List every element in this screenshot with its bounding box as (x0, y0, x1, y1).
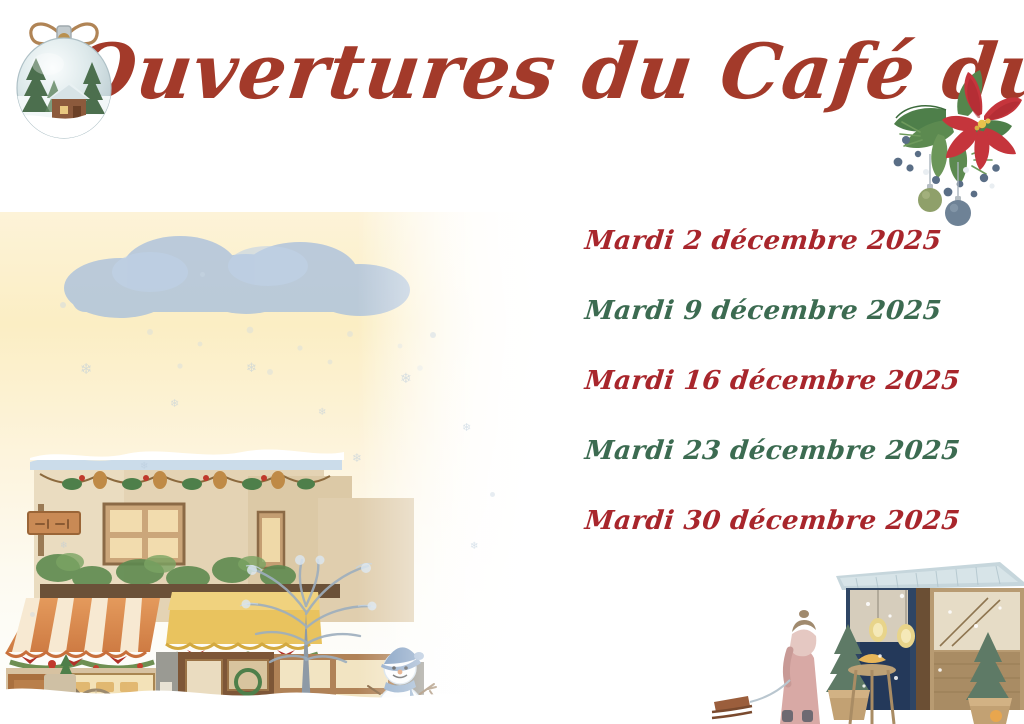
snowflake-icon: ❄ (60, 542, 68, 551)
list-item: Mardi 30 décembre 2025 (581, 486, 1018, 556)
orange-fruit (990, 710, 1002, 722)
list-item: Mardi 2 décembre 2025 (581, 206, 1018, 276)
snowflake-icon: ❄ (400, 372, 412, 386)
cafe-illustration (0, 212, 576, 724)
snowflake-icon: ❄ (80, 362, 93, 377)
winter-cafe-watercolor: ❄ ❄ ❄ ❄ ❄ ❄ ❄ ❄ ❄ ❄ (0, 212, 576, 724)
child-face-scarf (790, 629, 816, 656)
snowflake-icon: ❄ (140, 462, 148, 472)
sled (712, 680, 790, 718)
snowflake-icon: ❄ (318, 408, 326, 418)
child-boot (802, 710, 813, 722)
title-block: Ouvertures du Café du CRRF (0, 0, 1024, 200)
snow-dot (30, 612, 35, 617)
child-boot (782, 710, 793, 722)
list-item: Mardi 9 décembre 2025 (581, 276, 1018, 346)
list-item: Mardi 23 décembre 2025 (581, 416, 1018, 486)
christmas-bauble-ornament (4, 6, 124, 142)
opening-dates-list: Mardi 2 décembre 2025 Mardi 9 décembre 2… (585, 206, 1015, 556)
snow-dot (430, 332, 436, 338)
child-figure (780, 610, 820, 724)
snowflake-icon: ❄ (246, 362, 257, 375)
snowflake-icon: ❄ (470, 542, 478, 552)
cabin-post (916, 588, 930, 710)
snowflake-icon: ❄ (352, 452, 362, 464)
child-arm (786, 650, 790, 684)
snowflake-icon: ❄ (462, 422, 471, 433)
snow-dot (200, 272, 205, 277)
snow-dot (60, 302, 66, 308)
list-item: Mardi 16 décembre 2025 (581, 346, 1018, 416)
snowflake-icon: ❄ (170, 398, 179, 409)
glass-highlight (32, 53, 64, 75)
image-fade-mask (0, 212, 576, 724)
page-title: Ouvertures du Café du CRRF (65, 34, 1014, 110)
poster-canvas: Ouvertures du Café du CRRF (0, 0, 1024, 724)
snow-dot (490, 492, 495, 497)
